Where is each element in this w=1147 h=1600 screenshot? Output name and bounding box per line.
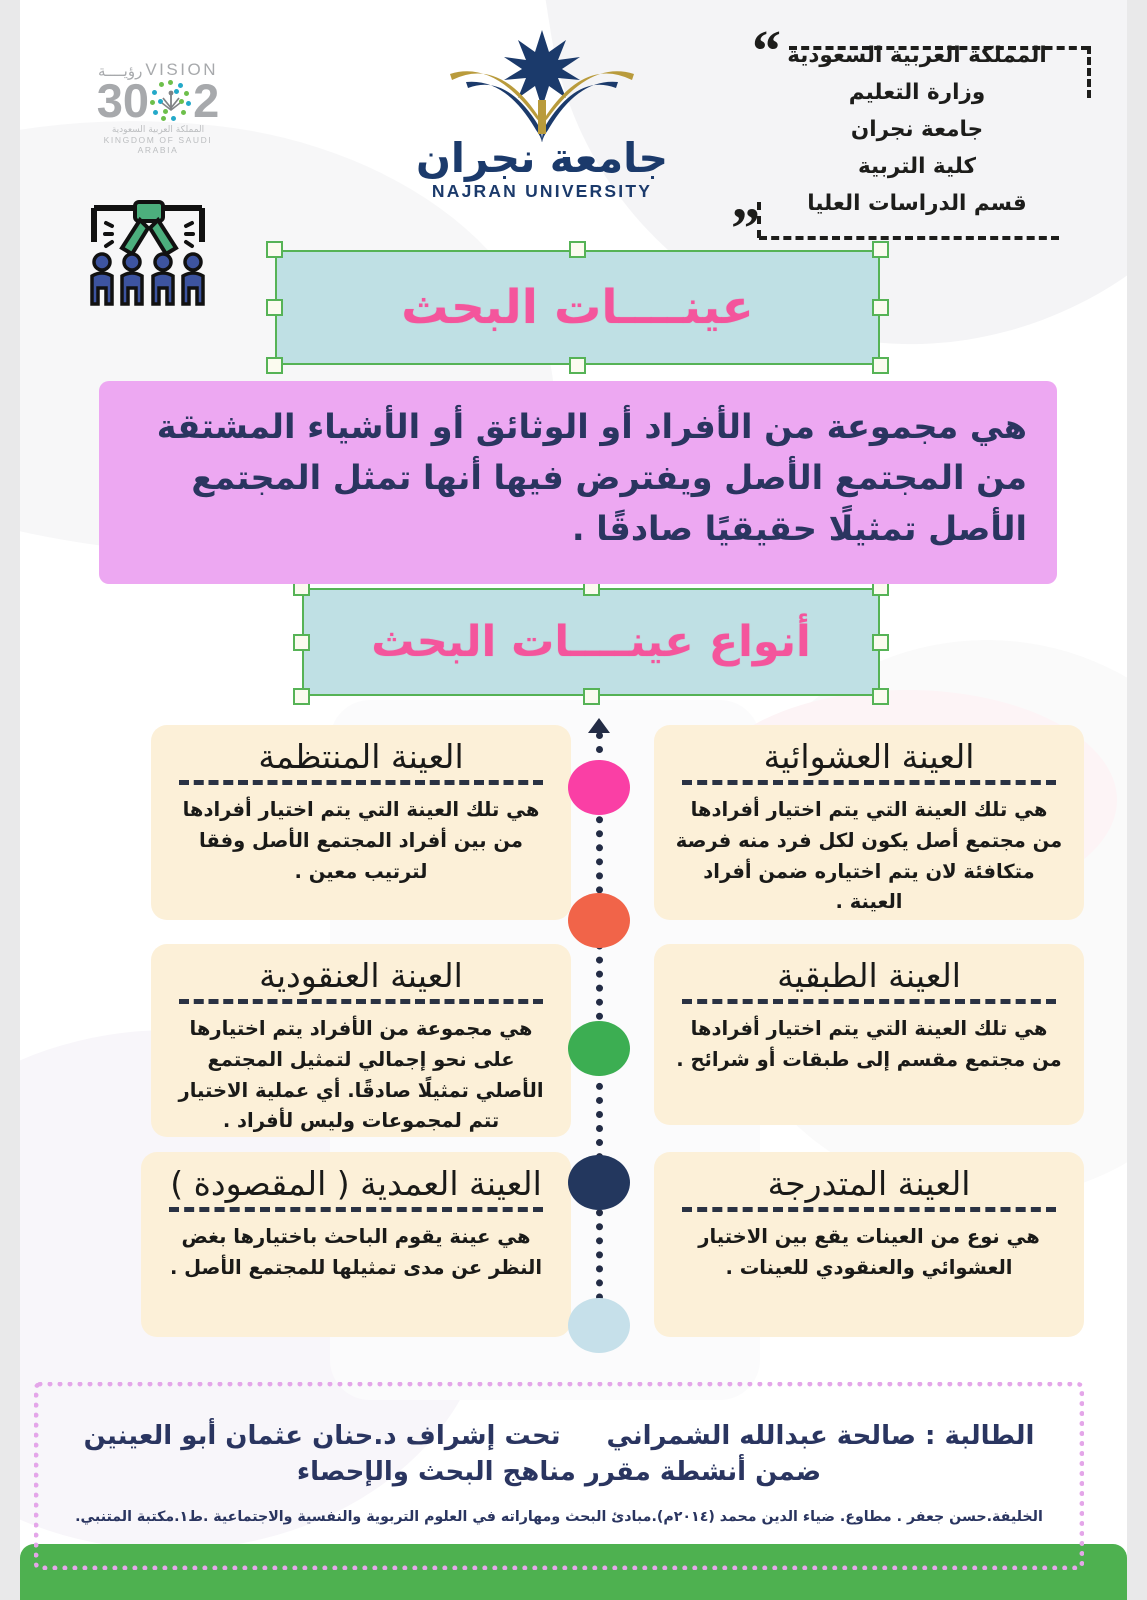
card-divider xyxy=(682,780,1056,785)
arrow-up-icon xyxy=(588,718,610,733)
affiliation-block: “ المملكة العربية السعودية وزارة التعليم… xyxy=(743,24,1099,235)
title-box-fill: عينــــات البحث xyxy=(275,250,880,365)
najran-logo-mark-icon xyxy=(442,22,642,142)
student-name: الطالبة : صالحة عبدالله الشمراني xyxy=(607,1421,1035,1451)
reference-citation: الخليفة.حسن جعفر . مطاوع. ضياء الدين محم… xyxy=(61,1509,1057,1525)
resize-handle-top-center[interactable] xyxy=(569,241,586,258)
affiliation-line-country: المملكة العربية السعودية xyxy=(759,38,1075,75)
timeline-dot-lightblue xyxy=(568,1298,630,1353)
card-title: العينة المتدرجة xyxy=(674,1166,1064,1203)
card-body: هي تلك العينة التي يتم اختيار أفرادها من… xyxy=(674,795,1064,918)
card-body: هي مجموعة من الأفراد يتم اختيارها على نح… xyxy=(171,1014,551,1137)
card-multistage-sample: العينة المتدرجة هي نوع من العينات يقع بي… xyxy=(654,1152,1084,1337)
affiliation-line-department: قسم الدراسات العليا xyxy=(759,186,1075,223)
card-divider xyxy=(179,999,543,1004)
card-body: هي تلك العينة التي يتم اختيار أفرادها من… xyxy=(674,1014,1064,1076)
card-purposive-sample: العينة العمدية ( المقصودة ) هي عينة يقوم… xyxy=(141,1152,571,1337)
card-title: العينة المنتظمة xyxy=(171,739,551,776)
affiliation-line-college: كلية التربية xyxy=(759,149,1075,186)
card-title: العينة الطبقية xyxy=(674,958,1064,995)
resize-handle-top-right[interactable] xyxy=(872,241,889,258)
page-margin-left xyxy=(0,0,20,1600)
card-divider xyxy=(179,780,543,785)
infographic-poster: VISION رؤيــــة 2 xyxy=(0,0,1147,1600)
section-title: أنواع عينــــات البحث xyxy=(371,617,810,667)
resize-handle-bottom-center[interactable] xyxy=(583,688,600,705)
vision-digit-right: 30 xyxy=(97,79,149,124)
title-box-fill: أنواع عينــــات البحث xyxy=(302,588,880,696)
resize-handle-middle-right[interactable] xyxy=(872,299,889,316)
resize-handle-bottom-left[interactable] xyxy=(293,688,310,705)
resize-handle-bottom-center[interactable] xyxy=(569,357,586,374)
definition-box: هي مجموعة من الأفراد أو الوثائق أو الأشي… xyxy=(99,381,1057,584)
vision-palm-emblem-icon xyxy=(150,80,192,122)
najran-university-logo: جامعة نجران NAJRAN UNIVERSITY xyxy=(402,22,682,202)
timeline-dot-green xyxy=(568,1021,630,1076)
card-title: العينة العنقودية xyxy=(171,958,551,995)
card-divider xyxy=(682,1207,1056,1212)
resize-handle-bottom-left[interactable] xyxy=(266,357,283,374)
vision-logo-numerals: 2 xyxy=(84,79,232,124)
resize-handle-middle-left[interactable] xyxy=(293,634,310,651)
timeline-dot-navy xyxy=(568,1155,630,1210)
timeline-axis xyxy=(595,718,603,1343)
card-title: العينة العمدية ( المقصودة ) xyxy=(161,1166,551,1203)
title-box-research-samples[interactable]: عينــــات البحث xyxy=(275,250,880,365)
sampling-claw-people-icon xyxy=(78,196,218,306)
affiliation-line-university: جامعة نجران xyxy=(759,112,1075,149)
card-body: هي تلك العينة التي يتم اختيار أفرادها من… xyxy=(171,795,551,887)
university-name-arabic: جامعة نجران xyxy=(402,138,682,179)
footer-credits-box: الطالبة : صالحة عبدالله الشمراني تحت إشر… xyxy=(34,1382,1084,1570)
definition-text: هي مجموعة من الأفراد أو الوثائق أو الأشي… xyxy=(121,402,1027,555)
card-body: هي نوع من العينات يقع بين الاختيار العشو… xyxy=(674,1222,1064,1284)
page-margin-right xyxy=(1127,0,1147,1600)
course-name: ضمن أنشطة مقرر مناهج البحث والإحصاء xyxy=(61,1457,1057,1487)
resize-handle-middle-left[interactable] xyxy=(266,299,283,316)
resize-handle-middle-right[interactable] xyxy=(872,634,889,651)
supervisor-name: تحت إشراف د.حنان عثمان أبو العينين xyxy=(84,1421,561,1451)
card-body: هي عينة يقوم الباحث باختيارها بغض النظر … xyxy=(161,1222,551,1284)
vision-subtitle-english: KINGDOM OF SAUDI ARABIA xyxy=(84,135,232,155)
university-name-english: NAJRAN UNIVERSITY xyxy=(402,181,682,202)
resize-handle-bottom-right[interactable] xyxy=(872,688,889,705)
affiliation-dashed-bottom xyxy=(759,236,1059,240)
affiliation-line-ministry: وزارة التعليم xyxy=(759,75,1075,112)
timeline-dot-pink xyxy=(568,760,630,815)
card-divider xyxy=(682,999,1056,1004)
footer-names-row: الطالبة : صالحة عبدالله الشمراني تحت إشر… xyxy=(61,1421,1057,1451)
card-stratified-sample: العينة الطبقية هي تلك العينة التي يتم اخ… xyxy=(654,944,1084,1125)
resize-handle-bottom-right[interactable] xyxy=(872,357,889,374)
card-cluster-sample: العينة العنقودية هي مجموعة من الأفراد يت… xyxy=(151,944,571,1137)
card-title: العينة العشوائية xyxy=(674,739,1064,776)
title-box-sample-types[interactable]: أنواع عينــــات البحث xyxy=(302,588,880,696)
card-random-sample: العينة العشوائية هي تلك العينة التي يتم … xyxy=(654,725,1084,920)
card-divider xyxy=(169,1207,543,1212)
vision-2030-logo: VISION رؤيــــة 2 xyxy=(84,58,232,155)
vision-digit-left: 2 xyxy=(193,79,219,124)
timeline-dot-orange xyxy=(568,893,630,948)
page-title: عينــــات البحث xyxy=(401,280,754,335)
palm-and-swords-icon xyxy=(160,89,182,113)
resize-handle-top-left[interactable] xyxy=(266,241,283,258)
card-systematic-sample: العينة المنتظمة هي تلك العينة التي يتم ا… xyxy=(151,725,571,920)
quote-close-icon: ” xyxy=(731,212,760,247)
